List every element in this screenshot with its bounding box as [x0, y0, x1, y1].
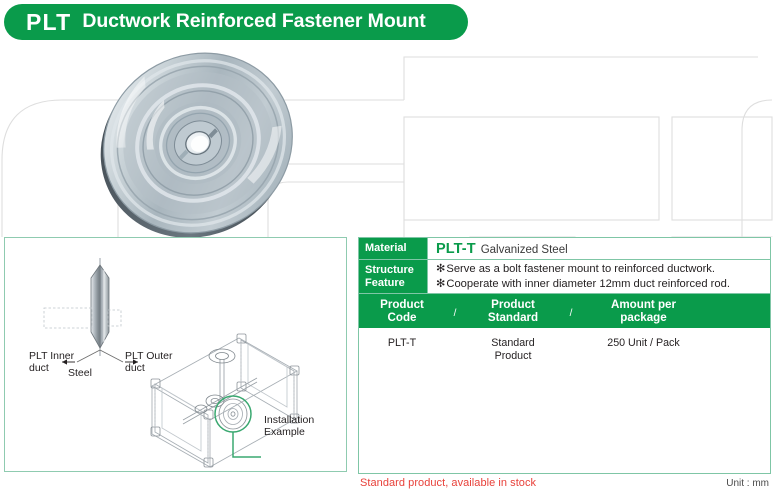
cell-spacer-2: [561, 328, 581, 368]
feature-item: ✻Cooperate with inner diameter 12mm duct…: [436, 277, 770, 292]
page-header-banner: PLT Ductwork Reinforced Fastener Mount: [4, 4, 468, 40]
column-separator-1: /: [445, 294, 465, 328]
structure-feature-value: ✻Serve as a bolt fastener mount to reinf…: [427, 260, 770, 293]
label-installation-example: InstallationExample: [264, 414, 314, 439]
material-name: Galvanized Steel: [481, 244, 568, 256]
cell-product-standard: StandardProduct: [465, 328, 561, 368]
material-product-code: PLT-T: [436, 241, 476, 257]
cell-product-code: PLT-T: [359, 328, 445, 368]
technical-diagram-panel: PLT Innerduct PLT Outerduct Steel Instal…: [4, 237, 347, 472]
feature-item: ✻Serve as a bolt fastener mount to reinf…: [436, 262, 770, 277]
structure-feature-key: Structure Feature: [359, 260, 427, 293]
material-value: PLT-T Galvanized Steel: [427, 238, 770, 259]
page-title: Ductwork Reinforced Fastener Mount: [82, 12, 425, 32]
table-row-material: Material PLT-T Galvanized Steel: [359, 238, 770, 260]
asterisk-icon: ✻: [436, 263, 445, 275]
asterisk-icon: ✻: [436, 278, 445, 290]
label-plt-outer-duct: PLT Outerduct: [125, 350, 172, 375]
column-header-amount-per-package: Amount perpackage: [581, 294, 706, 328]
product-series-code: PLT: [26, 11, 71, 34]
column-separator-2: /: [561, 294, 581, 328]
cell-spacer-1: [445, 328, 465, 368]
unit-note: Unit : mm: [726, 478, 769, 489]
cell-amount-per-package: 250 Unit / Pack: [581, 328, 706, 368]
column-header-product-code: ProductCode: [359, 294, 445, 328]
table-row: PLT-T StandardProduct 250 Unit / Pack: [359, 328, 770, 368]
table-column-header-row: ProductCode / ProductStandard / Amount p…: [359, 294, 770, 328]
label-steel: Steel: [68, 367, 92, 379]
table-row-structure-feature: Structure Feature ✻Serve as a bolt faste…: [359, 260, 770, 294]
product-photo-disc: [58, 46, 338, 241]
material-key: Material: [359, 238, 427, 259]
isometric-duct-frame: [151, 334, 299, 467]
datasheet-page: PLT Ductwork Reinforced Fastener Mount: [0, 0, 775, 500]
column-header-product-standard: ProductStandard: [465, 294, 561, 328]
installed-fastener: [219, 399, 247, 429]
specification-table: Material PLT-T Galvanized Steel Structur…: [358, 237, 771, 474]
cell-spacer-3: [706, 328, 770, 368]
cross-section-view: [44, 258, 138, 365]
column-header-spacer: [706, 294, 770, 328]
stock-availability-note: Standard product, available in stock: [360, 477, 536, 489]
